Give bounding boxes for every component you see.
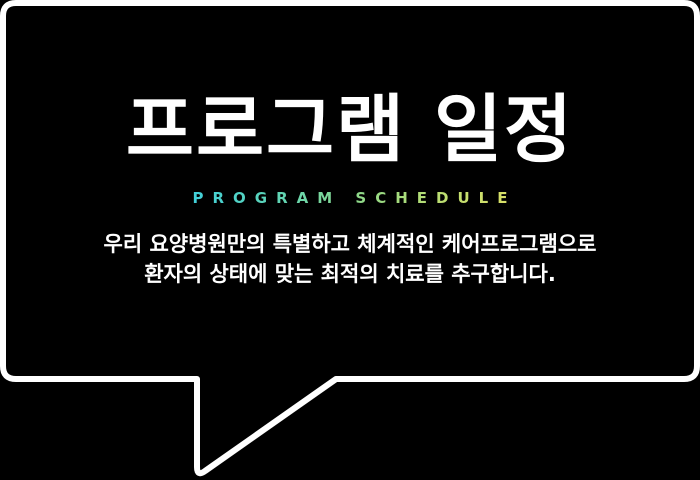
speech-bubble-banner: 프로그램 일정 PROGRAM SCHEDULE 우리 요양병원만의 특별하고 … bbox=[0, 0, 700, 480]
bubble-outline-path bbox=[3, 3, 697, 473]
speech-bubble-shape bbox=[0, 0, 700, 480]
